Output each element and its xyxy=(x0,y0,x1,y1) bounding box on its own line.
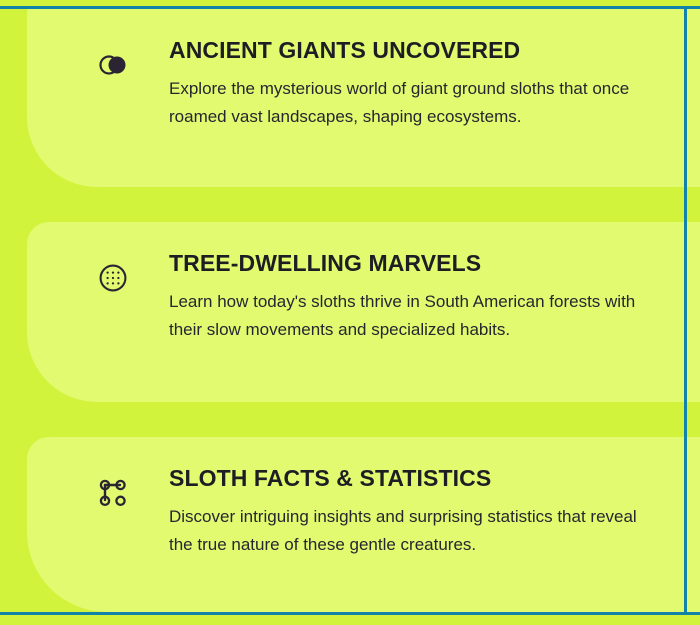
card-title: ANCIENT GIANTS UNCOVERED xyxy=(169,37,660,63)
node-graph-icon xyxy=(95,475,131,511)
card-description: Explore the mysterious world of giant gr… xyxy=(169,75,660,130)
card-description: Learn how today's sloths thrive in South… xyxy=(169,288,660,343)
card-text-column: ANCIENT GIANTS UNCOVERED Explore the mys… xyxy=(169,35,660,131)
card-icon-column xyxy=(57,248,169,296)
feature-card[interactable]: ANCIENT GIANTS UNCOVERED Explore the mys… xyxy=(27,9,700,187)
dotted-circle-icon xyxy=(95,260,131,296)
card-icon-column xyxy=(57,463,169,511)
page-root: ANCIENT GIANTS UNCOVERED Explore the mys… xyxy=(0,0,700,625)
frame-border-bottom xyxy=(0,612,700,615)
feature-card-list: ANCIENT GIANTS UNCOVERED Explore the mys… xyxy=(0,9,700,612)
card-text-column: SLOTH FACTS & STATISTICS Discover intrig… xyxy=(169,463,660,559)
card-icon-column xyxy=(57,35,169,83)
card-title: TREE-DWELLING MARVELS xyxy=(169,250,660,276)
feature-card[interactable]: TREE-DWELLING MARVELS Learn how today's … xyxy=(27,222,700,402)
card-text-column: TREE-DWELLING MARVELS Learn how today's … xyxy=(169,248,660,344)
frame-border-top xyxy=(0,6,700,9)
feature-card[interactable]: SLOTH FACTS & STATISTICS Discover intrig… xyxy=(27,437,700,612)
card-title: SLOTH FACTS & STATISTICS xyxy=(169,465,660,491)
overlapping-circles-icon xyxy=(95,47,131,83)
card-description: Discover intriguing insights and surpris… xyxy=(169,503,660,558)
frame-border-right xyxy=(684,6,687,615)
